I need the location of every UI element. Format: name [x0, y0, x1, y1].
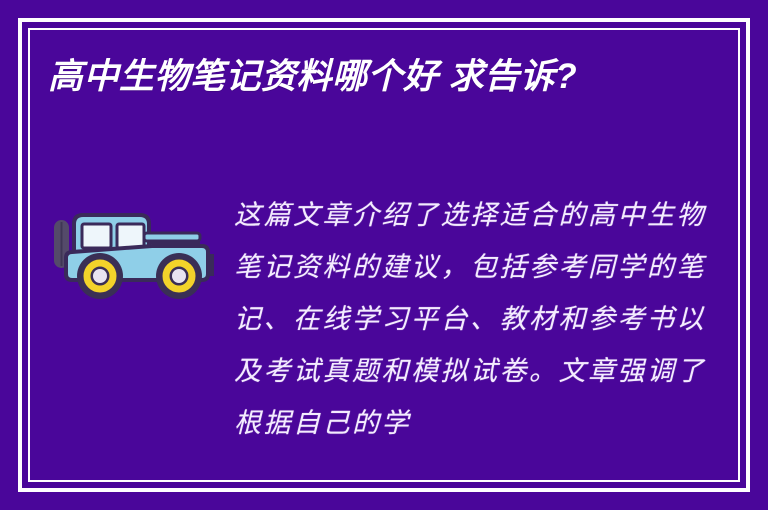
jeep-rear-wheel	[77, 253, 123, 299]
jeep-front-bumper	[208, 254, 214, 276]
article-summary-text: 这篇文章介绍了选择适合的高中生物笔记资料的建议，包括参考同学的笔记、在线学习平台…	[220, 190, 720, 450]
page-title: 高中生物笔记资料哪个好 求告诉?	[48, 52, 688, 102]
article-cover-card: 高中生物笔记资料哪个好 求告诉?	[0, 0, 768, 510]
content-row: 这篇文章介绍了选择适合的高中生物笔记资料的建议，包括参考同学的笔记、在线学习平台…	[48, 190, 720, 450]
jeep-rear-window	[82, 224, 111, 248]
jeep-front-wheel	[156, 253, 202, 299]
jeep-front-window	[117, 224, 144, 248]
jeep-hood-stripe	[144, 233, 200, 241]
jeep-illustration	[48, 202, 220, 304]
